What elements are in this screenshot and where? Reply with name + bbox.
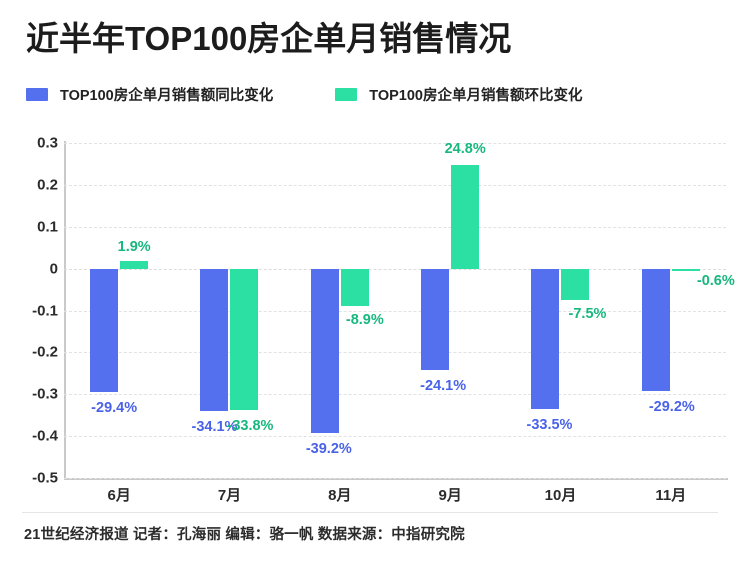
- bar-group-8月: -39.2%-8.9%: [285, 143, 395, 478]
- bar-value-label-11月-mom: -0.6%: [697, 273, 735, 289]
- gridline-0.3: [64, 143, 726, 144]
- bar-6月-mom[interactable]: [120, 261, 148, 269]
- legend-swatch-yoy: [26, 88, 48, 101]
- footer-credit: 21世纪经济报道 记者：孔海丽 编辑：骆一帆 数据来源：中指研究院: [24, 523, 465, 544]
- chart-legend: TOP100房企单月销售额同比变化 TOP100房企单月销售额环比变化: [26, 84, 583, 105]
- x-axis-line: [64, 478, 728, 480]
- bar-9月-yoy[interactable]: [421, 269, 449, 370]
- bar-6月-yoy[interactable]: [90, 269, 118, 392]
- legend-item-mom[interactable]: TOP100房企单月销售额环比变化: [335, 84, 582, 105]
- bar-11月-mom[interactable]: [672, 269, 700, 272]
- y-axis-tick-0: 0: [50, 260, 58, 277]
- x-axis-tick-6月: 6月: [107, 484, 130, 505]
- gridline--0.1: [64, 311, 726, 312]
- gridline--0.2: [64, 352, 726, 353]
- bar-value-label-6月-yoy: -29.4%: [91, 400, 137, 416]
- y-axis-tick-neg0_3: -0.3: [32, 386, 58, 403]
- bar-8月-mom[interactable]: [341, 269, 369, 306]
- bar-group-11月: -29.2%-0.6%: [616, 143, 726, 478]
- bar-value-label-10月-mom: -7.5%: [569, 306, 607, 322]
- x-axis-tick-8月: 8月: [328, 484, 351, 505]
- bar-7月-yoy[interactable]: [200, 269, 228, 412]
- bar-group-9月: -24.1%24.8%: [395, 143, 505, 478]
- bar-value-label-7月-yoy: -34.1%: [192, 419, 238, 435]
- bar-value-label-8月-yoy: -39.2%: [306, 441, 352, 457]
- y-axis-tick-neg0_2: -0.2: [32, 344, 58, 361]
- y-axis-tick-0_3: 0.3: [37, 135, 58, 152]
- y-axis-tick-labels: 0.30.20.10-0.1-0.2-0.3-0.4-0.5: [14, 131, 58, 479]
- bar-10月-yoy[interactable]: [531, 269, 559, 409]
- gridline-0.1: [64, 227, 726, 228]
- y-axis-tick-0_1: 0.1: [37, 218, 58, 235]
- bar-10月-mom[interactable]: [561, 269, 589, 300]
- bar-value-label-9月-mom: 24.8%: [445, 141, 486, 157]
- bar-9月-mom[interactable]: [451, 165, 479, 269]
- y-axis-line: [64, 141, 66, 480]
- gridline--0.5: [64, 478, 726, 479]
- x-axis-tick-labels: 6月7月8月9月10月11月: [64, 484, 726, 510]
- y-axis-tick-neg0_1: -0.1: [32, 302, 58, 319]
- x-axis-tick-7月: 7月: [218, 484, 241, 505]
- legend-item-yoy[interactable]: TOP100房企单月销售额同比变化: [26, 84, 273, 105]
- gridline--0.3: [64, 394, 726, 395]
- x-axis-tick-10月: 10月: [545, 484, 577, 505]
- bar-8月-yoy[interactable]: [311, 269, 339, 433]
- legend-swatch-mom: [335, 88, 357, 101]
- bar-value-label-9月-yoy: -24.1%: [420, 378, 466, 394]
- y-axis-tick-neg0_4: -0.4: [32, 428, 58, 445]
- bar-7月-mom[interactable]: [230, 269, 258, 411]
- y-axis-tick-neg0_5: -0.5: [32, 470, 58, 487]
- bar-group-10月: -33.5%-7.5%: [505, 143, 615, 478]
- bar-group-6月: -29.4%1.9%: [64, 143, 174, 478]
- bar-value-label-6月-mom: 1.9%: [118, 239, 151, 255]
- x-axis-tick-9月: 9月: [438, 484, 461, 505]
- legend-label-yoy: TOP100房企单月销售额同比变化: [60, 84, 273, 105]
- bar-groups: -29.4%1.9%-34.1%-33.8%-39.2%-8.9%-24.1%2…: [64, 143, 726, 478]
- bar-value-label-8月-mom: -8.9%: [346, 312, 384, 328]
- bar-group-7月: -34.1%-33.8%: [174, 143, 284, 478]
- bar-11月-yoy[interactable]: [642, 269, 670, 391]
- gridline-0.2: [64, 185, 726, 186]
- gridline--0.4: [64, 436, 726, 437]
- x-axis-tick-11月: 11月: [655, 484, 686, 505]
- y-axis-tick-0_2: 0.2: [37, 176, 58, 193]
- plot-area: -29.4%1.9%-34.1%-33.8%-39.2%-8.9%-24.1%2…: [64, 143, 726, 478]
- gridline-0: [64, 269, 726, 270]
- bar-value-label-10月-yoy: -33.5%: [527, 417, 573, 433]
- bar-value-label-7月-mom: -33.8%: [228, 418, 274, 434]
- page-title: 近半年TOP100房企单月销售情况: [26, 18, 511, 59]
- footer-divider: [22, 512, 718, 513]
- legend-label-mom: TOP100房企单月销售额环比变化: [369, 84, 582, 105]
- bar-value-label-11月-yoy: -29.2%: [649, 399, 695, 415]
